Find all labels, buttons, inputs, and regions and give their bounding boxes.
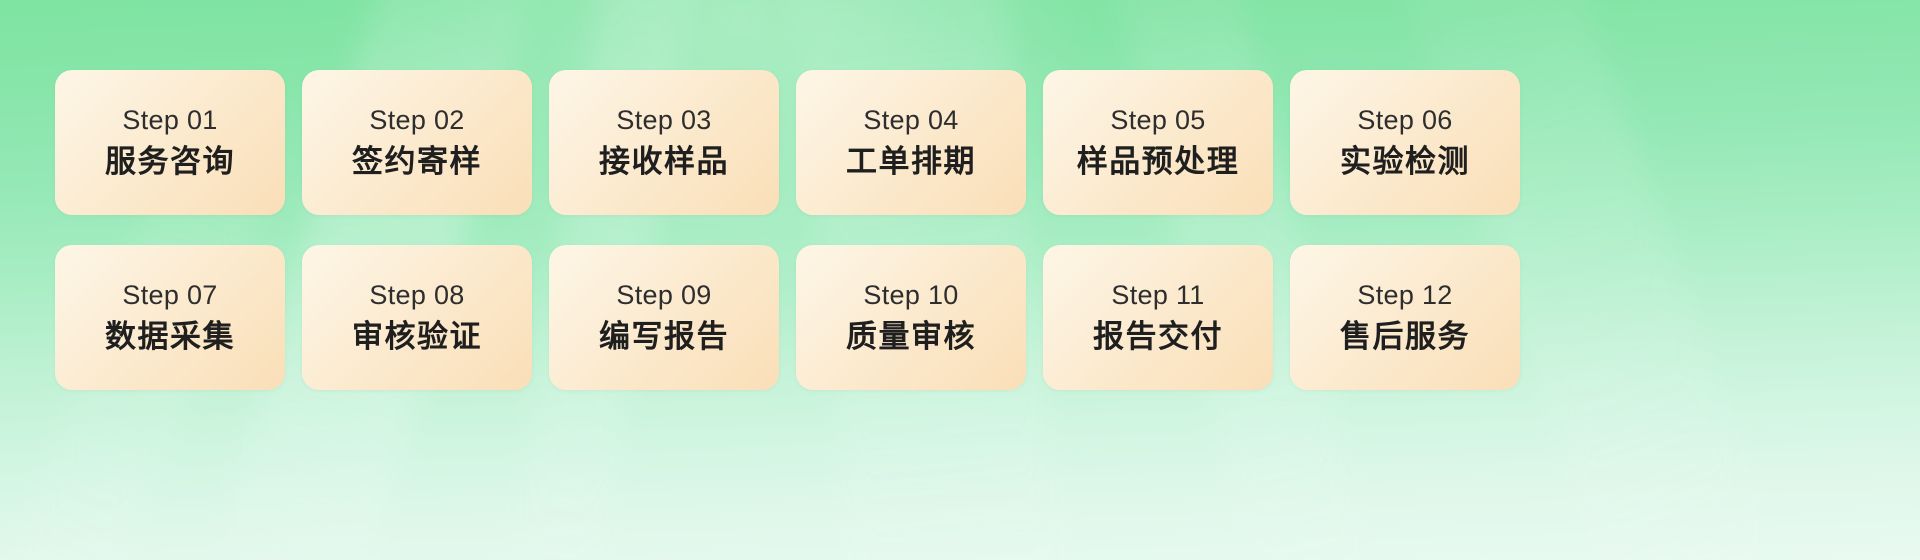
process-step-card-11[interactable]: Step 11 报告交付 (1043, 245, 1273, 390)
step-title-label: 售后服务 (1340, 320, 1470, 354)
process-step-card-7[interactable]: Step 07 数据采集 (55, 245, 285, 390)
step-number-label: Step 03 (616, 106, 711, 136)
step-title-label: 签约寄样 (352, 145, 482, 179)
step-title-label: 实验检测 (1340, 145, 1470, 179)
step-title-label: 工单排期 (846, 145, 976, 179)
process-step-card-10[interactable]: Step 10 质量审核 (796, 245, 1026, 390)
step-title-label: 报告交付 (1093, 320, 1223, 354)
step-title-label: 编写报告 (599, 320, 729, 354)
step-title-label: 样品预处理 (1077, 145, 1240, 179)
step-number-label: Step 12 (1357, 281, 1452, 311)
step-title-label: 数据采集 (105, 320, 235, 354)
process-step-card-12[interactable]: Step 12 售后服务 (1290, 245, 1520, 390)
step-number-label: Step 09 (616, 281, 711, 311)
process-step-grid: Step 01 服务咨询 Step 02 签约寄样 Step 03 接收样品 S… (0, 0, 1920, 560)
step-title-label: 质量审核 (846, 320, 976, 354)
step-number-label: Step 10 (863, 281, 958, 311)
step-number-label: Step 01 (122, 106, 217, 136)
step-title-label: 接收样品 (599, 145, 729, 179)
step-number-label: Step 11 (1111, 281, 1204, 311)
process-step-card-2[interactable]: Step 02 签约寄样 (302, 70, 532, 215)
step-number-label: Step 02 (369, 106, 464, 136)
process-flow-banner: Step 01 服务咨询 Step 02 签约寄样 Step 03 接收样品 S… (0, 0, 1920, 560)
process-step-card-5[interactable]: Step 05 样品预处理 (1043, 70, 1273, 215)
process-step-card-4[interactable]: Step 04 工单排期 (796, 70, 1026, 215)
step-number-label: Step 07 (122, 281, 217, 311)
step-title-label: 审核验证 (352, 320, 482, 354)
process-step-card-3[interactable]: Step 03 接收样品 (549, 70, 779, 215)
step-number-label: Step 08 (369, 281, 464, 311)
process-step-card-8[interactable]: Step 08 审核验证 (302, 245, 532, 390)
step-number-label: Step 06 (1357, 106, 1452, 136)
step-title-label: 服务咨询 (105, 145, 235, 179)
process-step-card-9[interactable]: Step 09 编写报告 (549, 245, 779, 390)
step-number-label: Step 04 (863, 106, 958, 136)
process-step-card-6[interactable]: Step 06 实验检测 (1290, 70, 1520, 215)
process-step-card-1[interactable]: Step 01 服务咨询 (55, 70, 285, 215)
step-number-label: Step 05 (1110, 106, 1205, 136)
